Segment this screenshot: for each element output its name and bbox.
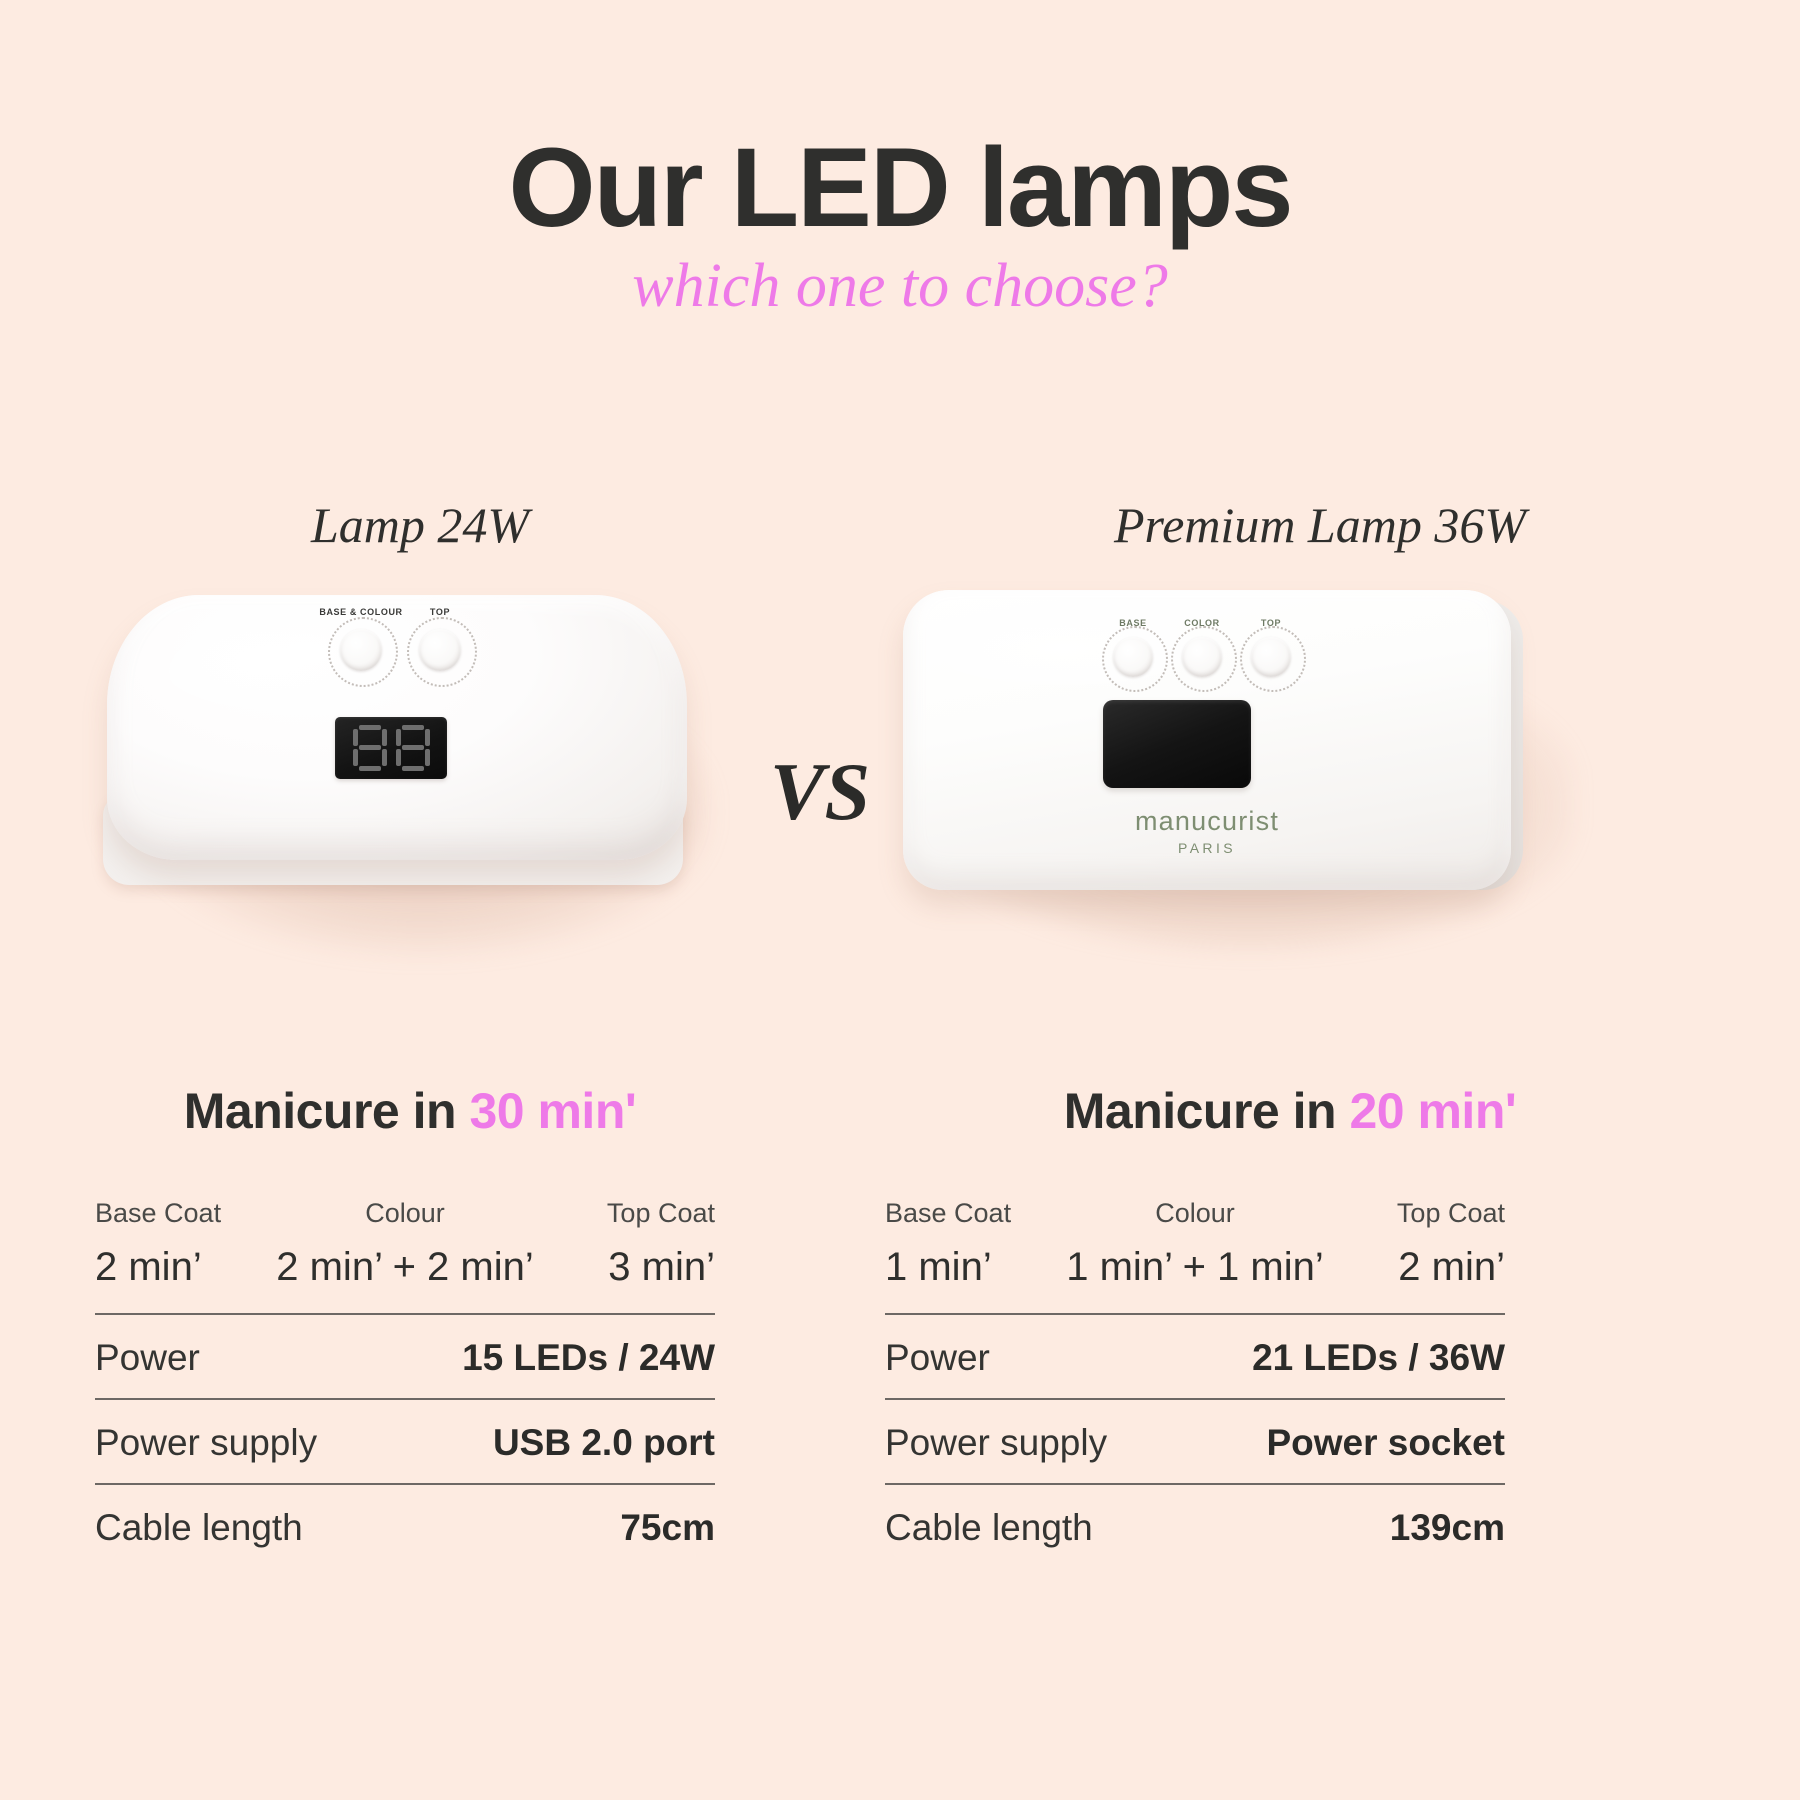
infographic-page: Our LED lamps which one to choose? Lamp … [0, 0, 1800, 1800]
spec-row-cable-length: Cable length 75cm [95, 1485, 715, 1568]
spec-label-power-supply: Power supply [95, 1424, 317, 1461]
lamp-24w-body: BASE & COLOUR TOP [107, 595, 687, 860]
spec-divider [885, 1398, 1505, 1400]
display-digit-1 [353, 725, 387, 771]
spec-value-power-supply: USB 2.0 port [493, 1424, 715, 1461]
coat-header-top: Top Coat [565, 1200, 715, 1227]
premium-lamp-36w-image: BASE COLOR TOP manucurist PARIS [895, 590, 1595, 950]
coat-value-colour: 2 min’ + 2 min’ [245, 1247, 565, 1287]
coat-cell-top: Top Coat 3 min’ [565, 1200, 715, 1287]
color-button[interactable] [1182, 637, 1222, 677]
manicure-duration-left: 30 min' [469, 1083, 636, 1139]
spec-divider [885, 1483, 1505, 1485]
display-digit-2 [396, 725, 430, 771]
spec-divider [95, 1313, 715, 1315]
page-subtitle: which one to choose? [0, 255, 1800, 317]
premium-lamp-screen [1103, 700, 1251, 788]
coat-header-base: Base Coat [885, 1200, 1035, 1227]
spec-divider [95, 1398, 715, 1400]
manicure-time-lamp-24w: Manicure in 30 min' [60, 1086, 760, 1136]
coat-timings-row: Base Coat 1 min’ Colour 1 min’ + 1 min’ … [885, 1200, 1505, 1287]
top-button-label-premium: TOP [1237, 618, 1305, 628]
spec-label-power: Power [885, 1339, 990, 1376]
coat-timings-row: Base Coat 2 min’ Colour 2 min’ + 2 min’ … [95, 1200, 715, 1287]
spec-value-power-supply: Power socket [1266, 1424, 1505, 1461]
spec-table-lamp-24w: Base Coat 2 min’ Colour 2 min’ + 2 min’ … [95, 1200, 715, 1568]
spec-divider [95, 1483, 715, 1485]
spec-divider [885, 1313, 1505, 1315]
spec-row-power: Power 21 LEDs / 36W [885, 1315, 1505, 1398]
spec-row-cable-length: Cable length 139cm [885, 1485, 1505, 1568]
coat-cell-colour: Colour 2 min’ + 2 min’ [245, 1200, 565, 1287]
manicure-prefix-left: Manicure in [184, 1083, 470, 1139]
premium-lamp-body: BASE COLOR TOP manucurist PARIS [903, 590, 1511, 890]
spec-row-power-supply: Power supply USB 2.0 port [95, 1400, 715, 1483]
base-button-label: BASE [1099, 618, 1167, 628]
coat-header-base: Base Coat [95, 1200, 245, 1227]
coat-cell-colour: Colour 1 min’ + 1 min’ [1035, 1200, 1355, 1287]
coat-value-base: 2 min’ [95, 1247, 245, 1287]
color-button-label: COLOR [1168, 618, 1236, 628]
spec-label-power-supply: Power supply [885, 1424, 1107, 1461]
spec-table-premium-lamp-36w: Base Coat 1 min’ Colour 1 min’ + 1 min’ … [885, 1200, 1505, 1568]
spec-value-power: 15 LEDs / 24W [462, 1339, 715, 1376]
coat-value-colour: 1 min’ + 1 min’ [1035, 1247, 1355, 1287]
spec-value-cable-length: 139cm [1390, 1509, 1505, 1546]
lamp-24w-image: BASE & COLOUR TOP [95, 595, 715, 955]
coat-header-colour: Colour [245, 1200, 565, 1227]
coat-header-colour: Colour [1035, 1200, 1355, 1227]
spec-label-cable-length: Cable length [95, 1509, 303, 1546]
brand-city: PARIS [903, 841, 1511, 855]
brand-name: manucurist [903, 808, 1511, 835]
spec-row-power: Power 15 LEDs / 24W [95, 1315, 715, 1398]
manicure-duration-right: 20 min' [1349, 1083, 1516, 1139]
top-button-premium[interactable] [1251, 637, 1291, 677]
base-button[interactable] [1113, 637, 1153, 677]
top-button[interactable] [419, 629, 461, 671]
spec-value-cable-length: 75cm [620, 1509, 715, 1546]
manicure-prefix-right: Manicure in [1064, 1083, 1350, 1139]
coat-cell-base: Base Coat 2 min’ [95, 1200, 245, 1287]
coat-value-top: 3 min’ [565, 1247, 715, 1287]
coat-value-top: 2 min’ [1355, 1247, 1505, 1287]
page-title: Our LED lamps [0, 132, 1800, 244]
product-name-premium-lamp-36w: Premium Lamp 36W [900, 500, 1740, 550]
spec-label-cable-length: Cable length [885, 1509, 1093, 1546]
manicure-time-premium-lamp: Manicure in 20 min' [880, 1086, 1700, 1136]
brand-logo: manucurist PARIS [903, 808, 1511, 855]
top-button-label: TOP [400, 607, 480, 617]
coat-value-base: 1 min’ [885, 1247, 1035, 1287]
coat-cell-base: Base Coat 1 min’ [885, 1200, 1035, 1287]
spec-label-power: Power [95, 1339, 200, 1376]
coat-cell-top: Top Coat 2 min’ [1355, 1200, 1505, 1287]
spec-value-power: 21 LEDs / 36W [1252, 1339, 1505, 1376]
versus-label: VS [735, 745, 905, 839]
spec-row-power-supply: Power supply Power socket [885, 1400, 1505, 1483]
coat-header-top: Top Coat [1355, 1200, 1505, 1227]
lamp-24w-led-display [335, 717, 447, 779]
base-colour-button[interactable] [340, 629, 382, 671]
product-name-lamp-24w: Lamp 24W [60, 500, 780, 550]
